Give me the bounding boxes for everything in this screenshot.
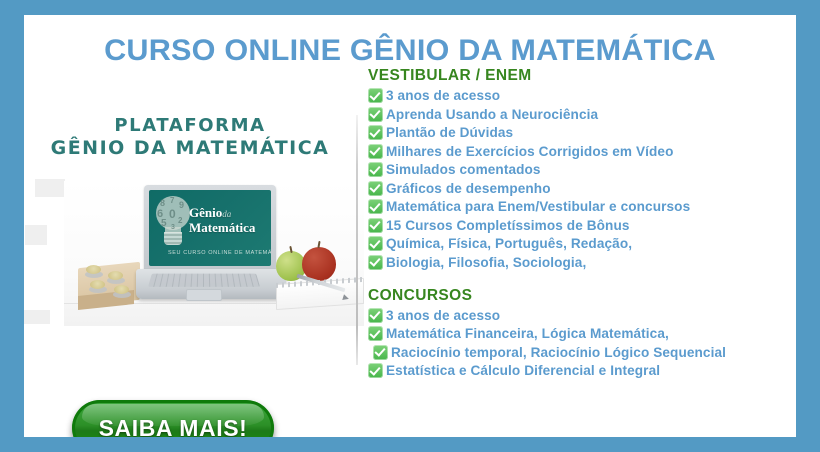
list-item: Química, Física, Português, Redação, (368, 236, 796, 251)
list-item-label: Aprenda Usando a Neurociência (386, 107, 598, 122)
list-item-label: 15 Cursos Completíssimos de Bônus (386, 218, 630, 233)
list-item-label: Plantão de Dúvidas (386, 125, 513, 140)
list-item-label: Simulados comentados (386, 162, 541, 177)
bulb-number: 5 (161, 218, 167, 229)
poster-frame: CURSO ONLINE GÊNIO DA MATEMÁTICA PLATAFO… (0, 0, 820, 452)
lightbulb-icon: 8 7 9 6 0 5 2 3 (153, 194, 193, 246)
bulb-number: 3 (171, 224, 175, 231)
page-title: CURSO ONLINE GÊNIO DA MATEMÁTICA (24, 34, 796, 68)
check-icon (368, 107, 383, 122)
list-item-label: Química, Física, Português, Redação, (386, 236, 632, 251)
list-item: Aprenda Usando a Neurociência (368, 107, 796, 122)
left-column: PLATAFORMA GÊNIO DA MATEMÁTICA (24, 75, 356, 435)
desk-photo: 8 7 9 6 0 5 2 3 Gênioda M (64, 181, 364, 326)
feature-list-concursos: 3 anos de acesso Matemática Financeira, … (368, 308, 796, 379)
screen-tagline: SEU CURSO ONLINE DE MATEMÁTICA (168, 250, 268, 256)
list-item: 3 anos de acesso (368, 308, 796, 323)
bulb-number: 9 (179, 200, 184, 210)
check-icon (368, 255, 383, 270)
lightbulb-base (164, 232, 182, 245)
list-item: Gráficos de desempenho (368, 181, 796, 196)
check-icon (368, 162, 383, 177)
apple-stem (289, 246, 292, 253)
laptop: 8 7 9 6 0 5 2 3 Gênioda M (136, 185, 286, 305)
laptop-trackpad (186, 289, 222, 301)
laptop-screen: 8 7 9 6 0 5 2 3 Gênioda M (149, 190, 271, 266)
image-artifact (24, 310, 50, 324)
bulb-number: 8 (160, 198, 165, 208)
list-item: 3 anos de acesso (368, 88, 796, 103)
platform-heading-line1: PLATAFORMA (114, 115, 265, 136)
feature-list-vestibular: 3 anos de acesso Aprenda Usando a Neuroc… (368, 88, 796, 270)
check-icon (368, 199, 383, 214)
check-icon (368, 181, 383, 196)
screen-brand-da: da (222, 209, 231, 219)
bulb-number: 2 (178, 216, 182, 225)
check-icon (368, 144, 383, 159)
list-item-label: Gráficos de desempenho (386, 181, 551, 196)
list-item: Simulados comentados (368, 162, 796, 177)
laptop-keyboard (148, 274, 260, 287)
poster-panel: CURSO ONLINE GÊNIO DA MATEMÁTICA PLATAFO… (24, 15, 796, 437)
list-item-label: Estatística e Cálculo Diferencial e Inte… (386, 363, 660, 378)
screen-brand-line1: Gênio (189, 205, 222, 220)
list-item-label: 3 anos de acesso (386, 88, 500, 103)
check-icon (373, 345, 388, 360)
list-item-label: Milhares de Exercícios Corrigidos em Víd… (386, 144, 674, 159)
screen-brand: Gênioda Matemática (189, 206, 269, 235)
saiba-mais-label: SAIBA MAIS! (72, 415, 274, 437)
saiba-mais-button[interactable]: SAIBA MAIS! (72, 400, 274, 437)
check-icon (368, 218, 383, 233)
check-icon (368, 363, 383, 378)
platform-heading: PLATAFORMA GÊNIO DA MATEMÁTICA (24, 115, 356, 159)
laptop-lid: 8 7 9 6 0 5 2 3 Gênioda M (144, 185, 276, 271)
bulb-number: 0 (169, 207, 176, 221)
list-item: Milhares de Exercícios Corrigidos em Víd… (368, 144, 796, 159)
image-artifact (25, 225, 47, 245)
list-item: 15 Cursos Completíssimos de Bônus (368, 218, 796, 233)
screen-brand-line2: Matemática (189, 220, 255, 235)
section-heading-vestibular: VESTIBULAR / ENEM (368, 67, 796, 85)
check-icon (368, 326, 383, 341)
section-heading-concursos: CONCURSOS (368, 287, 796, 305)
list-item-label: Biologia, Filosofia, Sociologia, (386, 255, 586, 270)
seedling (114, 285, 129, 294)
seedling (90, 280, 105, 289)
list-item: Estatística e Cálculo Diferencial e Inte… (368, 363, 796, 378)
column-divider (356, 115, 358, 365)
platform-heading-line2: GÊNIO DA MATEMÁTICA (24, 137, 356, 159)
list-item: Biologia, Filosofia, Sociologia, (368, 255, 796, 270)
bulb-number: 7 (170, 196, 174, 205)
features-column: VESTIBULAR / ENEM 3 anos de acesso Apren… (368, 67, 796, 382)
list-item: Matemática para Enem/Vestibular e concur… (368, 199, 796, 214)
list-item-label: Raciocínio temporal, Raciocínio Lógico S… (391, 345, 726, 360)
seedling (108, 271, 123, 280)
check-icon (368, 308, 383, 323)
list-item-label: Matemática para Enem/Vestibular e concur… (386, 199, 690, 214)
check-icon (368, 88, 383, 103)
list-item: Matemática Financeira, Lógica Matemática… (368, 326, 796, 341)
list-item-label: Matemática Financeira, Lógica Matemática… (386, 326, 669, 341)
check-icon (368, 125, 383, 140)
list-item: Plantão de Dúvidas (368, 125, 796, 140)
image-artifact (35, 179, 65, 197)
seedling (86, 265, 101, 274)
check-icon (368, 236, 383, 251)
list-item: Raciocínio temporal, Raciocínio Lógico S… (368, 345, 796, 360)
list-item-label: 3 anos de acesso (386, 308, 500, 323)
